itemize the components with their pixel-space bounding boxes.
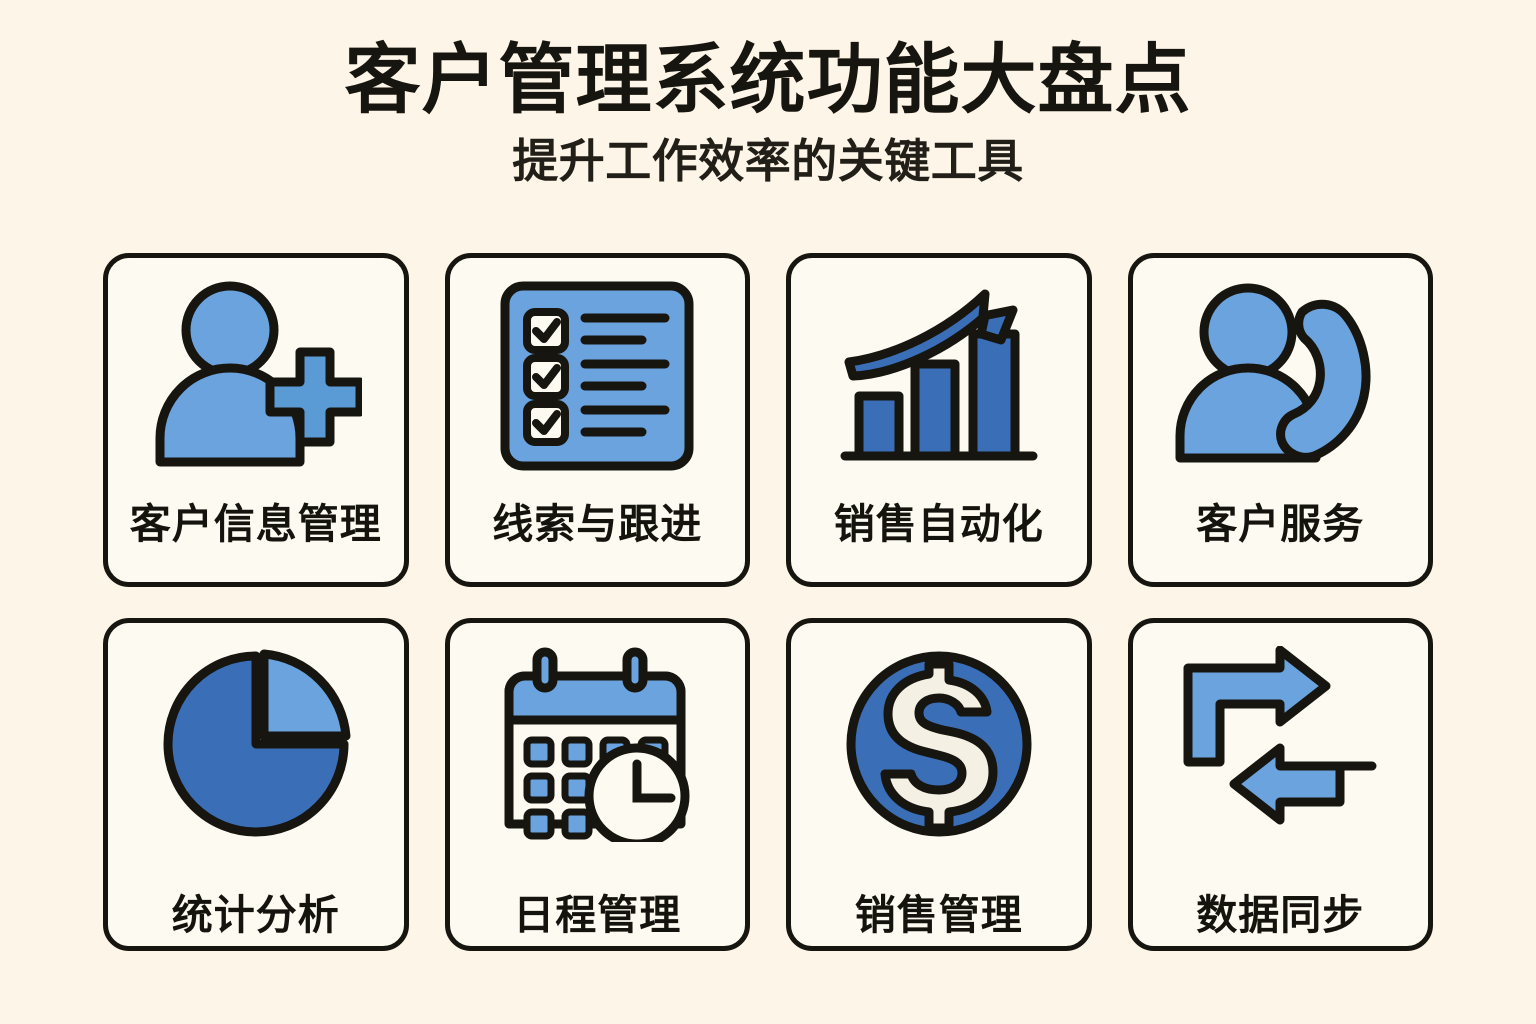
feature-card-label: 销售自动化 (834, 490, 1044, 550)
feature-card-analytics[interactable]: 统计分析 (103, 618, 409, 952)
sync-arrows-icon (1133, 641, 1429, 847)
feature-card-label: 数据同步 (1196, 881, 1364, 941)
checklist-icon (450, 270, 746, 482)
feature-card-sales-management[interactable]: 销售管理 (786, 618, 1092, 952)
feature-card-label: 统计分析 (172, 881, 340, 941)
growth-chart-icon (791, 270, 1087, 482)
feature-card-customer-info[interactable]: 客户信息管理 (103, 253, 409, 587)
feature-card-label: 客户信息管理 (130, 490, 382, 550)
page-title: 客户管理系统功能大盘点 (0, 0, 1536, 122)
dollar-coin-icon (791, 641, 1087, 847)
feature-card-label: 客户服务 (1196, 490, 1364, 550)
feature-card-schedule[interactable]: 日程管理 (445, 618, 751, 952)
feature-card-label: 销售管理 (855, 881, 1023, 941)
header: 客户管理系统功能大盘点 提升工作效率的关键工具 (0, 0, 1536, 187)
pie-chart-icon (108, 641, 404, 847)
infographic-page: 客户管理系统功能大盘点 提升工作效率的关键工具 客户信息管理 (0, 0, 1536, 1024)
feature-card-leads-followup[interactable]: 线索与跟进 (445, 253, 751, 587)
calendar-clock-icon (450, 641, 746, 847)
feature-card-sales-automation[interactable]: 销售自动化 (786, 253, 1092, 587)
feature-grid: 客户信息管理 (103, 253, 1433, 951)
feature-card-label: 线索与跟进 (492, 490, 702, 550)
page-subtitle: 提升工作效率的关键工具 (0, 122, 1536, 187)
feature-card-customer-service[interactable]: 客户服务 (1128, 253, 1434, 587)
support-phone-icon (1133, 270, 1429, 482)
user-plus-icon (108, 270, 404, 482)
feature-card-label: 日程管理 (513, 881, 681, 941)
feature-card-data-sync[interactable]: 数据同步 (1128, 618, 1434, 952)
